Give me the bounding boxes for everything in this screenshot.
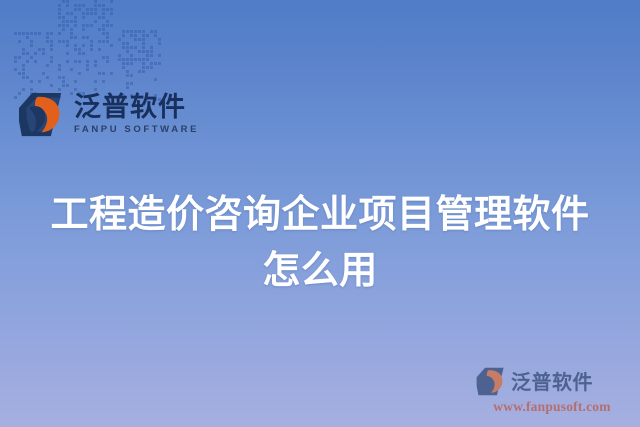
- cityscape-pixel-block: [150, 46, 153, 49]
- cityscape-pixel-block: [74, 80, 77, 83]
- cityscape-pixel-block: [42, 48, 45, 51]
- cityscape-pixel-block: [66, 52, 69, 55]
- cityscape-pixel-block: [94, 88, 97, 91]
- cityscape-pixel-block: [86, 24, 89, 27]
- cityscape-pixel-block: [138, 38, 141, 41]
- cityscape-pixel-block: [62, 20, 65, 23]
- cityscape-pixel-block: [90, 24, 93, 27]
- cityscape-pixel-block: [150, 54, 153, 57]
- cityscape-pixel-block: [82, 16, 85, 19]
- page-title-line-2: 怎么用: [0, 242, 640, 298]
- cityscape-pixel-block: [22, 52, 25, 55]
- cityscape-pixel-block: [134, 58, 137, 61]
- cityscape-pixel-block: [122, 58, 125, 61]
- cityscape-pixel-block: [46, 36, 49, 39]
- cityscape-pixel-block: [98, 4, 101, 7]
- cityscape-pixel-block: [18, 40, 21, 43]
- cityscape-pixel-block: [122, 46, 125, 49]
- cityscape-pixel-block: [74, 4, 77, 7]
- cityscape-pixel-block: [30, 32, 33, 35]
- cityscape-pixel-block: [38, 32, 41, 35]
- cityscape-pixel-block: [34, 32, 37, 35]
- cityscape-pixel-block: [94, 20, 97, 23]
- cityscape-pixel-block: [154, 62, 157, 65]
- cityscape-pixel-block: [98, 48, 101, 51]
- cityscape-pixel-block: [66, 0, 69, 3]
- cityscape-pixel-block: [142, 62, 145, 65]
- cityscape-pixel-block: [22, 68, 25, 71]
- cityscape-pixel-block: [62, 40, 65, 43]
- cityscape-pixel-block: [74, 8, 77, 11]
- cityscape-pixel-block: [94, 80, 97, 83]
- cityscape-pixel-block: [130, 62, 133, 65]
- cityscape-pixel-block: [58, 8, 61, 11]
- cityscape-pixel-block: [22, 32, 25, 35]
- cityscape-pixel-block: [66, 24, 69, 27]
- cityscape-pixel-block: [146, 54, 149, 57]
- cityscape-pixel-block: [142, 58, 145, 61]
- cityscape-pixel-block: [58, 40, 61, 43]
- cityscape-pixel-block: [70, 32, 73, 35]
- cityscape-pixel-block: [86, 64, 89, 67]
- cityscape-pixel-block: [78, 60, 81, 63]
- cityscape-pixel-block: [50, 44, 53, 47]
- cityscape-pixel-block: [22, 76, 25, 79]
- cityscape-pixel-block: [126, 58, 129, 61]
- cityscape-pixel-block: [150, 62, 153, 65]
- cityscape-pixel-block: [78, 8, 81, 11]
- cityscape-pixel-block: [22, 72, 25, 75]
- cityscape-pixel-block: [142, 38, 145, 41]
- cityscape-pixel-block: [30, 44, 33, 47]
- cityscape-pixel-block: [14, 68, 17, 71]
- cityscape-pixel-block: [158, 38, 161, 41]
- cityscape-pixel-block: [118, 58, 121, 61]
- cityscape-pixel-block: [154, 30, 157, 33]
- cityscape-pixel-block: [74, 60, 77, 63]
- cityscape-pixel-block: [22, 48, 25, 51]
- cityscape-pixel-block: [82, 36, 85, 39]
- cityscape-pixel-block: [122, 30, 125, 33]
- cityscape-pixel-block: [30, 88, 33, 91]
- cityscape-pixel-block: [70, 36, 73, 39]
- cityscape-pixel-block: [102, 12, 105, 15]
- cityscape-pixel-block: [110, 0, 113, 3]
- cityscape-pixel-block: [82, 52, 85, 55]
- cityscape-pixel-block: [98, 28, 101, 31]
- cityscape-pixel-block: [106, 60, 109, 63]
- cityscape-pixel-block: [110, 12, 113, 15]
- cityscape-pixel-block: [126, 74, 129, 77]
- cityscape-pixel-block: [122, 34, 125, 37]
- cityscape-pixel-block: [62, 76, 65, 79]
- cityscape-pixel-block: [50, 32, 53, 35]
- cityscape-pixel-block: [102, 24, 105, 27]
- cityscape-pixel-block: [46, 32, 49, 35]
- cityscape-pixel-block: [62, 84, 65, 87]
- cityscape-pixel-block: [122, 62, 125, 65]
- cityscape-pixel-block: [50, 56, 53, 59]
- cityscape-pixel-block: [78, 48, 81, 51]
- cityscape-pixel-block: [86, 68, 89, 71]
- cityscape-pixel-block: [50, 60, 53, 63]
- cityscape-pixel-block: [142, 30, 145, 33]
- cityscape-pixel-block: [58, 24, 61, 27]
- cityscape-pixel-block: [74, 20, 77, 23]
- cityscape-pixel-block: [18, 32, 21, 35]
- cityscape-pixel-block: [154, 34, 157, 37]
- cityscape-pixel-block: [126, 46, 129, 49]
- cityscape-pixel-block: [94, 12, 97, 15]
- cityscape-pixel-block: [82, 12, 85, 15]
- cityscape-pixel-block: [94, 8, 97, 11]
- cityscape-pixel-block: [146, 50, 149, 53]
- cityscape-pixel-block: [70, 28, 73, 31]
- cityscape-pixel-block: [102, 4, 105, 7]
- cityscape-pixel-block: [110, 72, 113, 75]
- cityscape-pixel-block: [102, 8, 105, 11]
- cityscape-pixel-block: [74, 16, 77, 19]
- cityscape-pixel-block: [26, 52, 29, 55]
- cityscape-pixel-block: [106, 8, 109, 11]
- cityscape-pixel-block: [110, 24, 113, 27]
- cityscape-pixel-block: [138, 70, 141, 73]
- cityscape-pixel-block: [106, 56, 109, 59]
- cityscape-pixel-block: [82, 28, 85, 31]
- cityscape-pixel-block: [66, 4, 69, 7]
- cityscape-pixel-block: [90, 8, 93, 11]
- cityscape-pixel-block: [46, 76, 49, 79]
- cityscape-pixel-block: [146, 58, 149, 61]
- cityscape-pixel-block: [150, 30, 153, 33]
- cityscape-pixel-block: [58, 68, 61, 71]
- cityscape-pixel-block: [26, 32, 29, 35]
- cityscape-pixel-block: [142, 50, 145, 53]
- cityscape-pixel-block: [102, 80, 105, 83]
- cityscape-pixel-block: [102, 40, 105, 43]
- cityscape-pixel-block: [86, 60, 89, 63]
- cityscape-pixel-block: [78, 52, 81, 55]
- cityscape-pixel-block: [130, 82, 133, 85]
- cityscape-pixel-block: [66, 84, 69, 87]
- cityscape-pixel-block: [22, 64, 25, 67]
- cityscape-pixel-block: [62, 24, 65, 27]
- cityscape-pixel-block: [70, 20, 73, 23]
- cityscape-pixel-block: [34, 52, 37, 55]
- brand-name-en: FANPU SOFTWARE: [74, 125, 199, 135]
- cityscape-pixel-block: [134, 46, 137, 49]
- cityscape-pixel-block: [138, 50, 141, 53]
- cityscape-pixel-block: [106, 40, 109, 43]
- cityscape-pixel-block: [110, 8, 113, 11]
- cityscape-pixel-block: [26, 36, 29, 39]
- cityscape-pixel-block: [42, 52, 45, 55]
- cityscape-pixel-block: [126, 30, 129, 33]
- cityscape-pixel-block: [98, 40, 101, 43]
- brand-watermark: 泛普软件 www.fanpusoft.com: [476, 367, 628, 415]
- cityscape-pixel-block: [150, 50, 153, 53]
- cityscape-pixel-block: [26, 60, 29, 63]
- cityscape-pixel-block: [74, 36, 77, 39]
- cityscape-pixel-block: [66, 20, 69, 23]
- page-title: 工程造价咨询企业项目管理软件 怎么用: [0, 186, 640, 298]
- cityscape-pixel-block: [14, 60, 17, 63]
- cityscape-pixel-block: [26, 76, 29, 79]
- cityscape-pixel-block: [106, 24, 109, 27]
- cityscape-pixel-block: [62, 0, 65, 3]
- cityscape-pixel-block: [122, 42, 125, 45]
- cityscape-pixel-block: [58, 76, 61, 79]
- cityscape-pixel-block: [102, 72, 105, 75]
- cityscape-pixel-block: [66, 44, 69, 47]
- cityscape-pixel-block: [94, 60, 97, 63]
- cityscape-pixel-block: [90, 12, 93, 15]
- cityscape-pixel-block: [126, 50, 129, 53]
- cityscape-pixel-block: [66, 60, 69, 63]
- watermark-brand-name: 泛普软件: [511, 372, 593, 392]
- cityscape-pixel-block: [58, 88, 61, 91]
- cityscape-pixel-block: [50, 48, 53, 51]
- cityscape-pixel-block: [126, 82, 129, 85]
- brand-wordmark: 泛普软件 FANPU SOFTWARE: [74, 94, 199, 135]
- cityscape-pixel-block: [86, 8, 89, 11]
- fanpu-hexagon-logo-icon: [18, 92, 65, 137]
- cityscape-pixel-block: [14, 96, 17, 99]
- cityscape-pixel-block: [130, 30, 133, 33]
- cityscape-pixel-block: [142, 70, 145, 73]
- cityscape-pixel-block: [82, 24, 85, 27]
- cityscape-pixel-block: [74, 88, 77, 91]
- cityscape-pixel-block: [18, 72, 21, 75]
- cityscape-pixel-block: [130, 54, 133, 57]
- cityscape-pixel-block: [58, 16, 61, 19]
- cityscape-pixel-block: [106, 20, 109, 23]
- cityscape-pixel-block: [146, 66, 149, 69]
- cityscape-pixel-block: [82, 4, 85, 7]
- cityscape-pixel-block: [50, 84, 53, 87]
- watermark-website-url: www.fanpusoft.com: [476, 399, 628, 415]
- cityscape-pixel-block: [106, 36, 109, 39]
- cityscape-pixel-block: [30, 80, 33, 83]
- cityscape-pixel-block: [78, 72, 81, 75]
- cityscape-pixel-block: [134, 34, 137, 37]
- cityscape-pixel-block: [142, 34, 145, 37]
- cityscape-pixel-block: [94, 64, 97, 67]
- cityscape-pixel-block: [158, 62, 161, 65]
- cityscape-pixel-block: [74, 44, 77, 47]
- cityscape-pixel-block: [90, 48, 93, 51]
- cityscape-pixel-block: [62, 16, 65, 19]
- cityscape-pixel-block: [18, 56, 21, 59]
- cityscape-pixel-block: [98, 72, 101, 75]
- cityscape-pixel-block: [150, 66, 153, 69]
- cityscape-pixel-block: [106, 32, 109, 35]
- cityscape-pixel-block: [118, 38, 121, 41]
- cityscape-pixel-block: [70, 12, 73, 15]
- cityscape-pixel-block: [70, 68, 73, 71]
- cityscape-pixel-block: [50, 40, 53, 43]
- cityscape-pixel-block: [154, 78, 157, 81]
- cityscape-pixel-block: [86, 36, 89, 39]
- cityscape-pixel-block: [14, 56, 17, 59]
- cityscape-pixel-block: [86, 12, 89, 15]
- cityscape-pixel-block: [146, 34, 149, 37]
- cityscape-pixel-block: [122, 66, 125, 69]
- cityscape-pixel-block: [66, 40, 69, 43]
- fanpu-hexagon-logo-icon: [476, 367, 506, 396]
- cityscape-pixel-block: [126, 70, 129, 73]
- cityscape-pixel-block: [134, 30, 137, 33]
- cityscape-pixel-block: [138, 30, 141, 33]
- cityscape-pixel-block: [126, 86, 129, 89]
- cityscape-pixel-block: [90, 40, 93, 43]
- cityscape-pixel-block: [142, 42, 145, 45]
- cityscape-pixel-block: [78, 4, 81, 7]
- cityscape-pixel-block: [126, 62, 129, 65]
- cityscape-pixel-block: [94, 0, 97, 3]
- cityscape-pixel-block: [38, 48, 41, 51]
- cityscape-pixel-block: [142, 46, 145, 49]
- cityscape-pixel-block: [82, 44, 85, 47]
- cityscape-pixel-block: [138, 58, 141, 61]
- cityscape-pixel-block: [90, 44, 93, 47]
- cityscape-pixel-block: [14, 32, 17, 35]
- cityscape-pixel-block: [34, 60, 37, 63]
- promo-banner: 泛普软件 FANPU SOFTWARE 工程造价咨询企业项目管理软件 怎么用 泛…: [0, 0, 640, 427]
- cityscape-pixel-block: [46, 64, 49, 67]
- page-title-line-1: 工程造价咨询企业项目管理软件: [0, 186, 640, 242]
- brand-logo-lockup: 泛普软件 FANPU SOFTWARE: [18, 92, 199, 137]
- pixel-cityscape-decoration: [14, 0, 164, 100]
- cityscape-pixel-block: [130, 34, 133, 37]
- cityscape-pixel-block: [158, 42, 161, 45]
- cityscape-pixel-block: [130, 46, 133, 49]
- cityscape-pixel-block: [158, 54, 161, 57]
- cityscape-pixel-block: [42, 72, 45, 75]
- cityscape-pixel-block: [74, 24, 77, 27]
- brand-name-cn: 泛普软件: [74, 94, 199, 121]
- cityscape-pixel-block: [110, 44, 113, 47]
- cityscape-pixel-block: [102, 56, 105, 59]
- cityscape-pixel-block: [130, 74, 133, 77]
- cityscape-pixel-block: [66, 12, 69, 15]
- cityscape-pixel-block: [58, 64, 61, 67]
- cityscape-pixel-block: [94, 4, 97, 7]
- cityscape-pixel-block: [38, 80, 41, 83]
- cityscape-pixel-block: [58, 12, 61, 15]
- cityscape-pixel-block: [74, 48, 77, 51]
- cityscape-pixel-block: [102, 32, 105, 35]
- cityscape-pixel-block: [130, 58, 133, 61]
- cityscape-pixel-block: [22, 88, 25, 91]
- cityscape-pixel-block: [118, 54, 121, 57]
- cityscape-pixel-block: [30, 56, 33, 59]
- cityscape-pixel-block: [30, 40, 33, 43]
- cityscape-pixel-block: [102, 16, 105, 19]
- cityscape-pixel-block: [62, 28, 65, 31]
- cityscape-pixel-block: [126, 42, 129, 45]
- cityscape-pixel-block: [62, 80, 65, 83]
- cityscape-pixel-block: [98, 16, 101, 19]
- cityscape-pixel-block: [58, 32, 61, 35]
- cityscape-pixel-block: [46, 40, 49, 43]
- cityscape-pixel-block: [58, 4, 61, 7]
- cityscape-pixel-block: [142, 66, 145, 69]
- cityscape-pixel-block: [134, 38, 137, 41]
- watermark-logo-row: 泛普软件: [476, 367, 628, 396]
- cityscape-pixel-block: [102, 28, 105, 31]
